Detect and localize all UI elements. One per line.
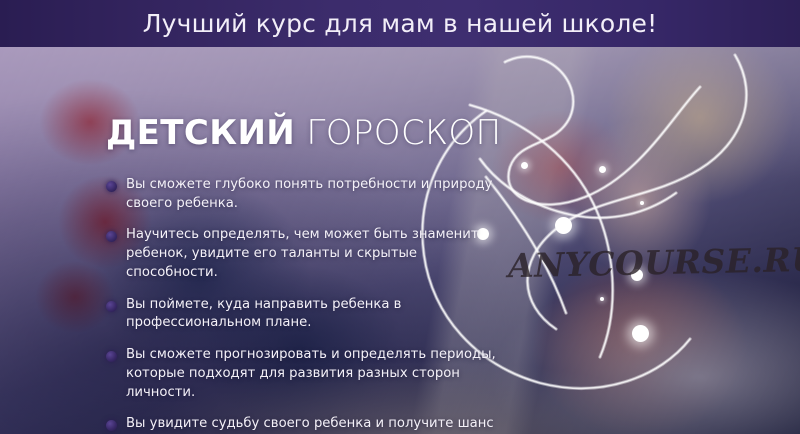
- bullet-dot-icon: [106, 231, 117, 242]
- list-item: Вы сможете глубоко понять потребности и …: [104, 176, 496, 213]
- banner-title: Лучший курс для мам в нашей школе!: [143, 11, 658, 36]
- benefits-list: Вы сможете глубоко понять потребности и …: [104, 176, 496, 434]
- hero-photo-stage: ДЕТСКИЙ ГОРОСКОП Вы сможете глубоко поня…: [0, 47, 800, 434]
- benefit-text: Вы поймете, куда направить ребенка в про…: [126, 296, 496, 333]
- hero-content: ДЕТСКИЙ ГОРОСКОП Вы сможете глубоко поня…: [0, 47, 800, 434]
- watermark: ANYCOURSE.RU: [508, 240, 800, 286]
- bullet-dot-icon: [106, 420, 117, 431]
- page-title-strong: ДЕТСКИЙ: [106, 113, 295, 153]
- bullet-dot-icon: [106, 301, 117, 312]
- page-title-light: ГОРОСКОП: [306, 113, 501, 153]
- page-title: ДЕТСКИЙ ГОРОСКОП: [106, 115, 502, 152]
- top-banner: Лучший курс для мам в нашей школе!: [0, 0, 800, 47]
- benefit-text: Научитесь определять, чем может быть зна…: [126, 226, 496, 282]
- list-item: Вы сможете прогнозировать и определять п…: [104, 346, 496, 402]
- benefit-text: Вы увидите судьбу своего ребенка и получ…: [126, 415, 496, 434]
- benefit-text: Вы сможете прогнозировать и определять п…: [126, 346, 496, 402]
- list-item: Вы поймете, куда направить ребенка в про…: [104, 296, 496, 333]
- list-item: Вы увидите судьбу своего ребенка и получ…: [104, 415, 496, 434]
- list-item: Научитесь определять, чем может быть зна…: [104, 226, 496, 282]
- bullet-dot-icon: [106, 351, 117, 362]
- promo-banner-page: Лучший курс для мам в нашей школе!: [0, 0, 800, 434]
- bullet-dot-icon: [106, 181, 117, 192]
- benefit-text: Вы сможете глубоко понять потребности и …: [126, 176, 496, 213]
